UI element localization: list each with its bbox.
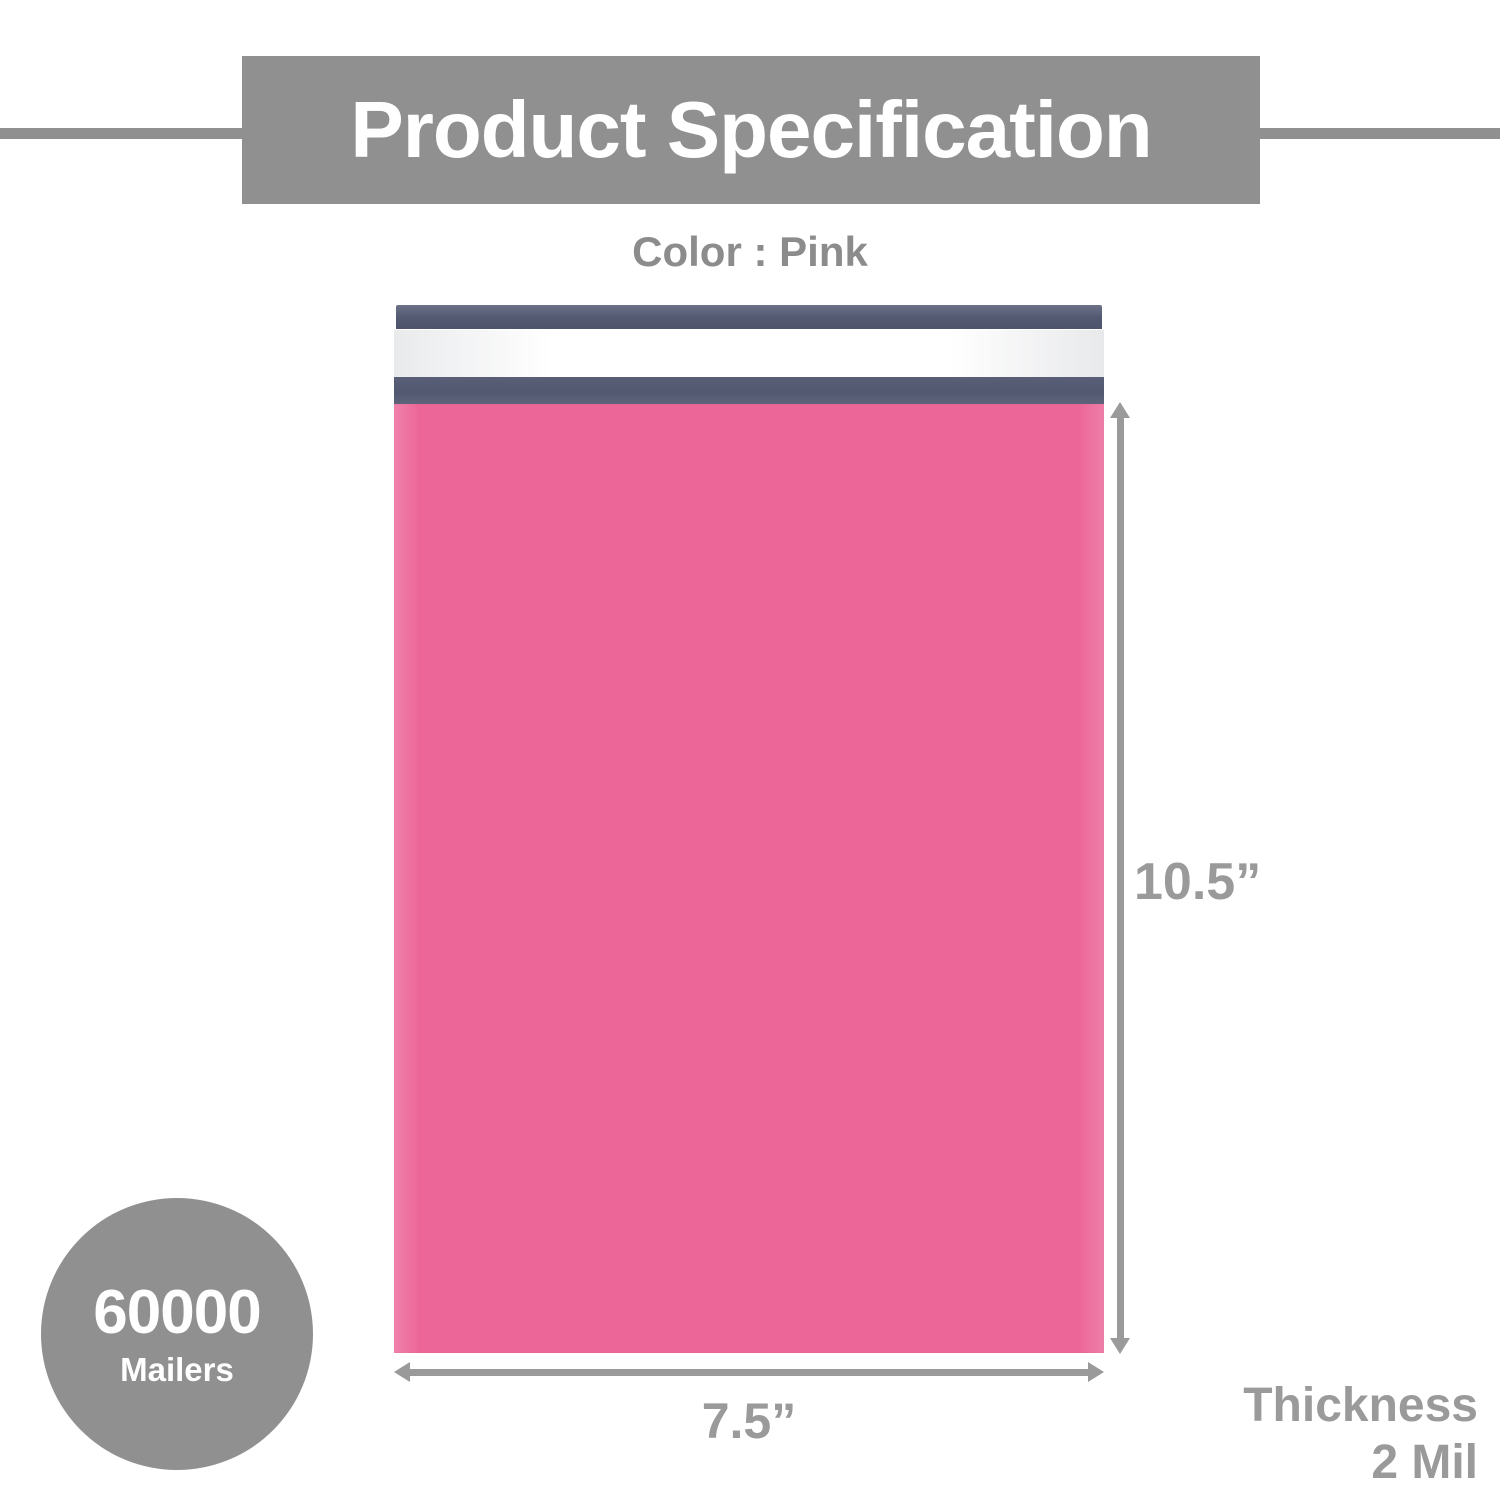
bag-body: [394, 404, 1104, 1353]
width-dimension-arrow: [394, 1362, 1104, 1382]
arrow-right-icon: [1088, 1362, 1104, 1382]
bag-adhesive-liner-strip: [394, 330, 1104, 377]
quantity-value: 60000: [93, 1282, 260, 1344]
color-caption: Color : Pink: [0, 228, 1500, 276]
arrow-down-icon: [1110, 1338, 1130, 1354]
thickness-label: Thickness: [1243, 1378, 1478, 1435]
thickness-block: Thickness 2 Mil: [1243, 1378, 1478, 1491]
quantity-badge: 60000 Mailers: [41, 1198, 313, 1470]
bag-flap-top-edge: [396, 305, 1102, 329]
product-image-poly-mailer: [394, 305, 1104, 1353]
bag-body-highlight-right: [1078, 404, 1104, 1353]
bag-seal-strip: [394, 377, 1104, 404]
width-dimension-label: 7.5”: [394, 1392, 1104, 1450]
height-dimension-label: 10.5”: [1134, 852, 1261, 912]
header-rule-right: [1252, 128, 1500, 139]
page-title: Product Specification: [350, 90, 1151, 170]
height-dimension-line: [1117, 414, 1124, 1342]
width-dimension-line: [406, 1369, 1092, 1376]
header-banner: Product Specification: [242, 56, 1260, 204]
header-rule-left: [0, 128, 250, 139]
bag-body-highlight-left: [394, 404, 420, 1353]
thickness-value: 2 Mil: [1243, 1435, 1478, 1492]
quantity-unit-label: Mailers: [120, 1353, 234, 1386]
height-dimension-arrow: [1110, 402, 1130, 1354]
